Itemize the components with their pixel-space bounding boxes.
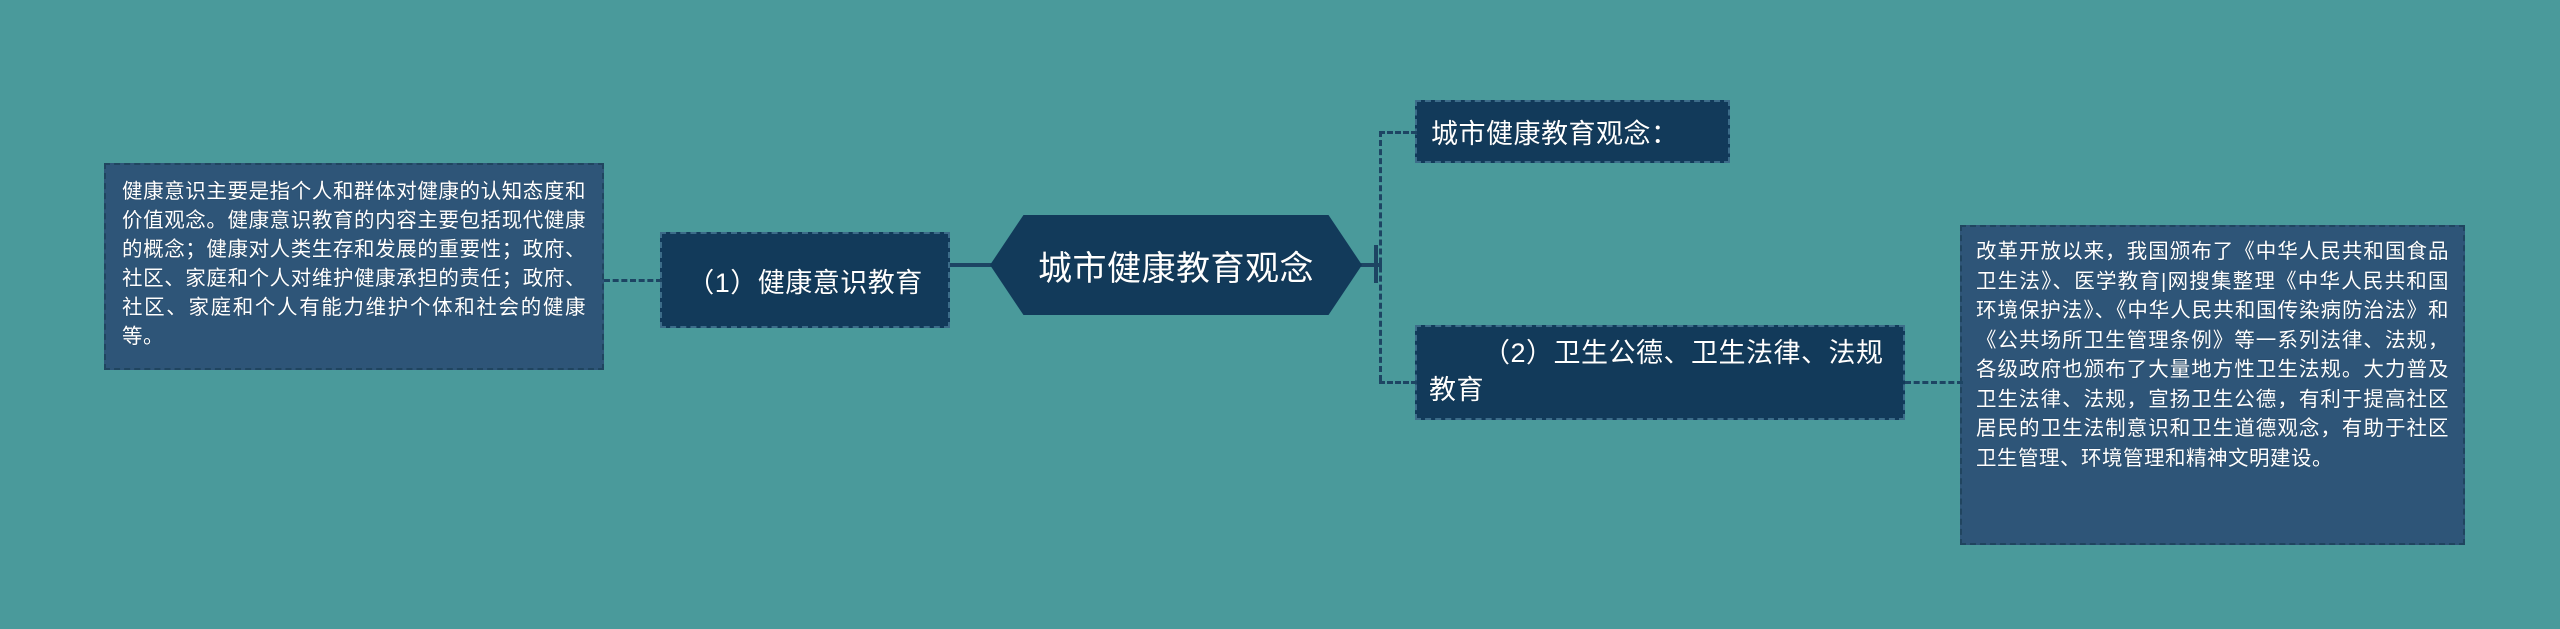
connector-left-detail-to-branch-1 — [604, 279, 662, 282]
branch-node-health-awareness-education-label: （1）健康意识教育 — [687, 261, 923, 300]
connector-branch-1-to-center — [950, 263, 992, 267]
center-node-urban-health-education-concept[interactable]: 城市健康教育观念 — [990, 215, 1362, 315]
connector-trunk-to-branch-bottom — [1379, 381, 1417, 384]
connector-trunk-cap — [1374, 245, 1378, 283]
branch-node-hygiene-ethics-law-education-label: （2）卫生公德、卫生法律、法规教育 — [1429, 335, 1891, 409]
branch-node-urban-health-education-concept-heading-label: 城市健康教育观念： — [1431, 112, 1679, 151]
connector-vertical-trunk — [1379, 131, 1382, 381]
branch-node-urban-health-education-concept-heading[interactable]: 城市健康教育观念： — [1415, 100, 1730, 163]
detail-box-health-awareness-text: 健康意识主要是指个人和群体对健康的认知态度和价值观念。健康意识教育的内容主要包括… — [122, 177, 586, 351]
center-node-label: 城市健康教育观念 — [1038, 241, 1314, 290]
connector-branch-bottom-to-right-detail — [1905, 381, 1963, 384]
branch-node-hygiene-ethics-law-education[interactable]: （2）卫生公德、卫生法律、法规教育 — [1415, 325, 1905, 420]
branch-node-health-awareness-education[interactable]: （1）健康意识教育 — [660, 232, 950, 328]
detail-box-health-awareness[interactable]: 健康意识主要是指个人和群体对健康的认知态度和价值观念。健康意识教育的内容主要包括… — [104, 163, 604, 370]
detail-box-hygiene-legislation[interactable]: 改革开放以来，我国颁布了《中华人民共和国食品卫生法》、医学教育|网搜集整理《中华… — [1960, 225, 2465, 545]
mindmap-canvas: 健康意识主要是指个人和群体对健康的认知态度和价值观念。健康意识教育的内容主要包括… — [0, 0, 2560, 629]
detail-box-hygiene-legislation-text: 改革开放以来，我国颁布了《中华人民共和国食品卫生法》、医学教育|网搜集整理《中华… — [1976, 237, 2449, 473]
connector-trunk-to-branch-top — [1379, 131, 1417, 134]
